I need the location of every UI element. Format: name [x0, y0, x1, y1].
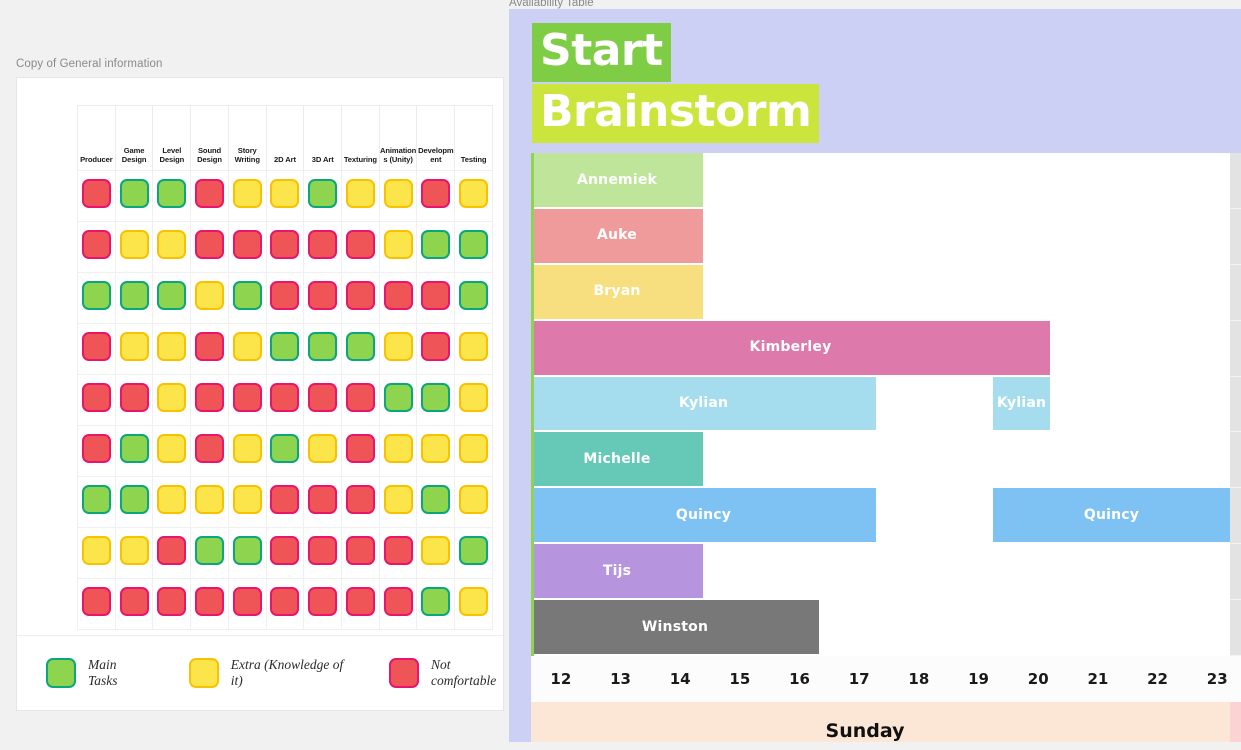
skill-chip-red [195, 587, 224, 616]
skill-chip-yellow [459, 179, 488, 208]
skill-cell[interactable] [228, 477, 266, 528]
skill-chip-yellow [346, 179, 375, 208]
skill-cell[interactable] [304, 426, 342, 477]
skill-chip-yellow [308, 434, 337, 463]
skill-chip-yellow [195, 281, 224, 310]
skill-cell[interactable] [342, 171, 380, 222]
column-header-game-design: Game Design [115, 106, 153, 171]
timeline-row-winston: Winston [531, 600, 1241, 656]
skill-chip-green [82, 281, 111, 310]
legend-swatch-red [389, 658, 419, 688]
skill-cell[interactable] [228, 222, 266, 273]
timeline-right-gutter [1230, 153, 1241, 656]
skill-chip-green [308, 179, 337, 208]
skill-cell[interactable] [455, 375, 493, 426]
legend-swatch-yellow [189, 658, 219, 688]
timeline-row-auke: Auke [531, 209, 1241, 265]
legend-item-extra: Extra (Knowledge of it) [189, 657, 351, 688]
column-header-sound-design: Sound Design [191, 106, 229, 171]
skill-cell[interactable] [304, 528, 342, 579]
availability-bar-label: Quincy [1084, 508, 1139, 523]
skill-cell[interactable] [342, 375, 380, 426]
skill-cell[interactable] [78, 222, 116, 273]
skill-chip-red [233, 383, 262, 412]
skill-cell[interactable] [417, 528, 455, 579]
table-row [78, 528, 493, 579]
skill-cell[interactable] [342, 324, 380, 375]
skill-cell[interactable] [191, 324, 229, 375]
skill-cell[interactable] [153, 375, 191, 426]
skill-chip-red [270, 485, 299, 514]
legend-swatch-green [46, 658, 76, 688]
skill-chip-green [157, 179, 186, 208]
table-header-row: ProducerGame DesignLevel DesignSound Des… [78, 106, 493, 171]
table-row [78, 426, 493, 477]
skill-chip-yellow [233, 434, 262, 463]
timeline-row-bryan: Bryan [531, 265, 1241, 321]
skill-chip-red [384, 587, 413, 616]
availability-table-caption: Availability Table [509, 0, 594, 9]
skill-cell[interactable] [379, 171, 417, 222]
skill-chip-yellow [82, 536, 111, 565]
skill-chip-green [157, 281, 186, 310]
skill-chip-red [270, 536, 299, 565]
skill-cell[interactable] [304, 324, 342, 375]
hour-label-14: 14 [650, 670, 710, 688]
skill-cell[interactable] [455, 528, 493, 579]
table-row [78, 171, 493, 222]
skill-chip-red [195, 434, 224, 463]
skill-chip-red [195, 332, 224, 361]
hour-label-15: 15 [710, 670, 770, 688]
skill-cell[interactable] [115, 375, 153, 426]
availability-bar-label: Tijs [603, 564, 631, 579]
skill-cell[interactable] [342, 426, 380, 477]
right-panel: Availability Table Start Brainstorm Anne… [509, 0, 1241, 750]
skill-cell[interactable] [78, 579, 116, 630]
general-information-card: ProducerGame DesignLevel DesignSound Des… [16, 77, 504, 711]
skill-cell[interactable] [379, 222, 417, 273]
skill-chip-red [120, 383, 149, 412]
skill-chip-red [233, 230, 262, 259]
legend-label-extra: Extra (Knowledge of it) [231, 657, 351, 688]
hour-label-16: 16 [770, 670, 830, 688]
column-header-level-design: Level Design [153, 106, 191, 171]
skill-cell[interactable] [153, 222, 191, 273]
availability-bar-label: Kimberley [750, 340, 832, 355]
timeline-rows: AnnemiekAukeBryanKimberleyKylianKylianMi… [531, 153, 1241, 656]
skill-chip-green [459, 281, 488, 310]
skill-chip-red [308, 230, 337, 259]
skill-cell[interactable] [153, 273, 191, 324]
skill-chip-green [270, 332, 299, 361]
gutter-cell [1230, 432, 1241, 488]
board-title: Start Brainstorm [532, 23, 819, 143]
skill-chip-red [82, 179, 111, 208]
availability-bar-quincy[interactable]: Quincy [531, 488, 876, 542]
skill-chip-yellow [384, 434, 413, 463]
legend-label-main-tasks: Main Tasks [88, 657, 145, 688]
availability-bar-label: Annemiek [577, 173, 657, 188]
skill-chip-red [346, 434, 375, 463]
skill-cell[interactable] [228, 324, 266, 375]
hour-label-17: 17 [829, 670, 889, 688]
column-header-2d-art: 2D Art [266, 106, 304, 171]
left-panel: Copy of General information ProducerGame… [0, 0, 509, 750]
skill-chip-red [308, 485, 337, 514]
column-header-producer: Producer [78, 106, 116, 171]
skills-matrix-table: ProducerGame DesignLevel DesignSound Des… [77, 105, 493, 630]
day-row-gutter [1230, 702, 1241, 742]
legend-item-main-tasks: Main Tasks [46, 657, 145, 688]
skill-cell[interactable] [115, 426, 153, 477]
skill-cell[interactable] [78, 375, 116, 426]
skill-chip-yellow [421, 536, 450, 565]
skill-chip-yellow [384, 485, 413, 514]
availability-bar-annemiek[interactable]: Annemiek [531, 153, 703, 207]
skill-cell[interactable] [455, 579, 493, 630]
skill-chip-red [308, 536, 337, 565]
timeline-row-michelle: Michelle [531, 432, 1241, 488]
skill-cell[interactable] [266, 222, 304, 273]
skill-cell[interactable] [78, 171, 116, 222]
skill-cell[interactable] [228, 579, 266, 630]
left-panel-caption: Copy of General information [16, 58, 163, 70]
skill-cell[interactable] [379, 579, 417, 630]
skill-chip-green [384, 383, 413, 412]
skill-chip-green [459, 536, 488, 565]
skill-chip-red [157, 587, 186, 616]
skill-cell[interactable] [191, 477, 229, 528]
skill-chip-green [233, 281, 262, 310]
skill-cell[interactable] [417, 222, 455, 273]
skill-chip-yellow [233, 485, 262, 514]
skill-cell[interactable] [304, 222, 342, 273]
gutter-cell [1230, 488, 1241, 544]
skill-cell[interactable] [153, 324, 191, 375]
hour-label-13: 13 [591, 670, 651, 688]
timeline-row-kimberley: Kimberley [531, 321, 1241, 377]
table-body [78, 171, 493, 630]
skill-cell[interactable] [455, 426, 493, 477]
timeline-row-quincy: QuincyQuincy [531, 488, 1241, 544]
column-header-story-writing: Story Writing [228, 106, 266, 171]
availability-bar-winston[interactable]: Winston [531, 600, 819, 654]
skill-cell[interactable] [266, 477, 304, 528]
skill-chip-red [421, 179, 450, 208]
skill-cell[interactable] [191, 528, 229, 579]
skill-cell[interactable] [417, 324, 455, 375]
timeline-row-tijs: Tijs [531, 544, 1241, 600]
skill-cell[interactable] [266, 273, 304, 324]
skill-cell[interactable] [266, 426, 304, 477]
skill-cell[interactable] [228, 426, 266, 477]
availability-bar-auke[interactable]: Auke [531, 209, 703, 263]
skill-chip-red [270, 587, 299, 616]
skill-chip-yellow [384, 179, 413, 208]
skill-chip-yellow [157, 230, 186, 259]
timeline-grid: AnnemiekAukeBryanKimberleyKylianKylianMi… [531, 153, 1241, 727]
skill-chip-red [120, 587, 149, 616]
skill-chip-yellow [384, 332, 413, 361]
hour-label-12: 12 [531, 670, 591, 688]
skill-chip-red [308, 587, 337, 616]
day-row-sunday: Sunday [531, 702, 1241, 742]
skill-cell[interactable] [455, 324, 493, 375]
skill-chip-red [195, 179, 224, 208]
skill-chip-green [82, 485, 111, 514]
column-header-3d-art: 3D Art [304, 106, 342, 171]
availability-bar-label: Quincy [676, 508, 731, 523]
hour-label-20: 20 [1008, 670, 1068, 688]
skill-cell[interactable] [115, 222, 153, 273]
skill-cell[interactable] [78, 426, 116, 477]
skill-cell[interactable] [417, 579, 455, 630]
table-row [78, 579, 493, 630]
hour-label-22: 22 [1128, 670, 1188, 688]
skill-cell[interactable] [78, 477, 116, 528]
skill-chip-red [346, 230, 375, 259]
skill-cell[interactable] [153, 477, 191, 528]
skill-chip-yellow [120, 230, 149, 259]
skill-chip-red [421, 332, 450, 361]
board-title-line-2: Brainstorm [532, 84, 819, 143]
skill-chip-green [233, 536, 262, 565]
skill-cell[interactable] [379, 375, 417, 426]
gutter-cell [1230, 377, 1241, 433]
skill-cell[interactable] [191, 171, 229, 222]
skill-cell[interactable] [78, 273, 116, 324]
skill-chip-red [82, 383, 111, 412]
skill-chip-red [157, 536, 186, 565]
hour-axis: 121314151617181920212223 [531, 656, 1241, 702]
skill-cell[interactable] [115, 477, 153, 528]
screen: Copy of General information ProducerGame… [0, 0, 1241, 750]
skill-chip-red [195, 230, 224, 259]
skill-chip-yellow [157, 383, 186, 412]
skill-chip-red [346, 281, 375, 310]
column-header-animations-unity: Animations (Unity) [379, 106, 417, 171]
skill-chip-green [120, 281, 149, 310]
skill-cell[interactable] [266, 171, 304, 222]
skill-chip-yellow [120, 332, 149, 361]
skill-cell[interactable] [417, 426, 455, 477]
skill-chip-green [421, 485, 450, 514]
skill-cell[interactable] [115, 528, 153, 579]
day-label: Sunday [826, 720, 905, 742]
legend-label-not-comfortable: Not comfortable [431, 657, 503, 688]
skill-chip-yellow [195, 485, 224, 514]
gutter-cell [1230, 265, 1241, 321]
skill-chip-yellow [459, 332, 488, 361]
availability-bar-kylian[interactable]: Kylian [531, 377, 876, 431]
skill-cell[interactable] [304, 477, 342, 528]
skill-cell[interactable] [379, 426, 417, 477]
table-row [78, 222, 493, 273]
skill-chip-red [82, 332, 111, 361]
skill-cell[interactable] [342, 579, 380, 630]
timeline-row-kylian: KylianKylian [531, 377, 1241, 433]
skill-cell[interactable] [379, 528, 417, 579]
availability-bar-quincy[interactable]: Quincy [993, 488, 1230, 542]
skill-chip-green [120, 434, 149, 463]
skill-chip-red [270, 281, 299, 310]
skill-cell[interactable] [455, 171, 493, 222]
skill-cell[interactable] [342, 477, 380, 528]
skill-cell[interactable] [78, 528, 116, 579]
availability-bar-michelle[interactable]: Michelle [531, 432, 703, 486]
skill-cell[interactable] [191, 426, 229, 477]
skill-cell[interactable] [455, 273, 493, 324]
skill-chip-yellow [459, 434, 488, 463]
skill-cell[interactable] [228, 171, 266, 222]
skill-chip-yellow [120, 536, 149, 565]
skill-chip-green [459, 230, 488, 259]
skill-cell[interactable] [266, 375, 304, 426]
skill-cell[interactable] [266, 528, 304, 579]
gutter-cell [1230, 209, 1241, 265]
skill-cell[interactable] [379, 273, 417, 324]
skill-cell[interactable] [342, 528, 380, 579]
skill-chip-green [421, 587, 450, 616]
skill-chip-yellow [157, 485, 186, 514]
availability-bar-label: Kylian [679, 396, 728, 411]
skill-cell[interactable] [304, 375, 342, 426]
skill-cell[interactable] [153, 171, 191, 222]
skill-chip-green [421, 383, 450, 412]
skill-chip-red [308, 383, 337, 412]
availability-bar-tijs[interactable]: Tijs [531, 544, 703, 598]
skill-chip-red [270, 383, 299, 412]
availability-bar-label: Auke [597, 228, 637, 243]
skill-chip-yellow [233, 332, 262, 361]
skill-chip-red [346, 587, 375, 616]
skill-cell[interactable] [191, 273, 229, 324]
skill-cell[interactable] [228, 375, 266, 426]
skill-chip-yellow [421, 434, 450, 463]
skill-cell[interactable] [115, 273, 153, 324]
skill-cell[interactable] [228, 528, 266, 579]
skill-cell[interactable] [191, 375, 229, 426]
table-row [78, 477, 493, 528]
column-header-development: Development [417, 106, 455, 171]
skill-chip-yellow [459, 383, 488, 412]
legend: Main Tasks Extra (Knowledge of it) Not c… [17, 635, 503, 710]
availability-bar-label: Bryan [593, 284, 640, 299]
skill-chip-green [120, 485, 149, 514]
skill-cell[interactable] [304, 273, 342, 324]
skill-chip-green [195, 536, 224, 565]
skill-chip-red [384, 536, 413, 565]
timeline-left-rail [531, 153, 534, 656]
skill-cell[interactable] [115, 579, 153, 630]
skill-chip-yellow [384, 230, 413, 259]
skill-chip-red [233, 587, 262, 616]
skill-cell[interactable] [191, 579, 229, 630]
skill-chip-yellow [270, 179, 299, 208]
skill-chip-green [421, 230, 450, 259]
skill-cell[interactable] [228, 273, 266, 324]
skill-chip-red [82, 434, 111, 463]
skill-cell[interactable] [455, 477, 493, 528]
skill-cell[interactable] [153, 579, 191, 630]
skill-cell[interactable] [379, 477, 417, 528]
skill-cell[interactable] [153, 528, 191, 579]
availability-bar-label: Kylian [997, 396, 1046, 411]
skill-chip-red [346, 536, 375, 565]
skill-cell[interactable] [115, 171, 153, 222]
board-title-line-1: Start [532, 23, 671, 82]
skill-chip-green [346, 332, 375, 361]
skill-chip-yellow [459, 587, 488, 616]
skill-cell[interactable] [342, 273, 380, 324]
gutter-cell [1230, 544, 1241, 600]
skill-cell[interactable] [266, 579, 304, 630]
skill-chip-green [270, 434, 299, 463]
skill-cell[interactable] [417, 171, 455, 222]
skill-cell[interactable] [417, 273, 455, 324]
skill-chip-red [346, 383, 375, 412]
availability-board: Start Brainstorm AnnemiekAukeBryanKimber… [509, 9, 1241, 742]
hour-label-18: 18 [889, 670, 949, 688]
hour-label-19: 19 [949, 670, 1009, 688]
skill-cell[interactable] [379, 324, 417, 375]
skill-cell[interactable] [304, 579, 342, 630]
skill-cell[interactable] [78, 324, 116, 375]
skill-chip-yellow [157, 332, 186, 361]
gutter-cell [1230, 153, 1241, 209]
skill-chip-red [195, 383, 224, 412]
gutter-cell [1230, 321, 1241, 377]
availability-bar-kylian[interactable]: Kylian [993, 377, 1050, 431]
legend-item-not-comfortable: Not comfortable [389, 657, 503, 688]
skill-chip-green [120, 179, 149, 208]
table-row [78, 273, 493, 324]
availability-bar-bryan[interactable]: Bryan [531, 265, 703, 319]
timeline-row-annemiek: Annemiek [531, 153, 1241, 209]
skill-chip-yellow [459, 485, 488, 514]
availability-bar-label: Michelle [583, 452, 650, 467]
skill-cell[interactable] [115, 324, 153, 375]
table-row [78, 324, 493, 375]
skill-cell[interactable] [417, 477, 455, 528]
skill-cell[interactable] [266, 324, 304, 375]
skill-chip-yellow [157, 434, 186, 463]
skill-cell[interactable] [191, 222, 229, 273]
skill-chip-green [308, 332, 337, 361]
skill-chip-red [421, 281, 450, 310]
skill-cell[interactable] [455, 222, 493, 273]
table-row [78, 375, 493, 426]
skill-cell[interactable] [153, 426, 191, 477]
gutter-cell [1230, 600, 1241, 656]
skill-chip-yellow [233, 179, 262, 208]
skill-chip-red [270, 230, 299, 259]
skill-chip-red [384, 281, 413, 310]
hour-label-21: 21 [1068, 670, 1128, 688]
skill-chip-red [346, 485, 375, 514]
column-header-testing: Testing [455, 106, 493, 171]
hour-label-23: 23 [1187, 670, 1241, 688]
availability-bar-kimberley[interactable]: Kimberley [531, 321, 1050, 375]
column-header-texturing: Texturing [342, 106, 380, 171]
skill-chip-red [82, 587, 111, 616]
skill-chip-red [308, 281, 337, 310]
skill-cell[interactable] [342, 222, 380, 273]
availability-bar-label: Winston [642, 620, 708, 635]
skill-cell[interactable] [417, 375, 455, 426]
skill-cell[interactable] [304, 171, 342, 222]
